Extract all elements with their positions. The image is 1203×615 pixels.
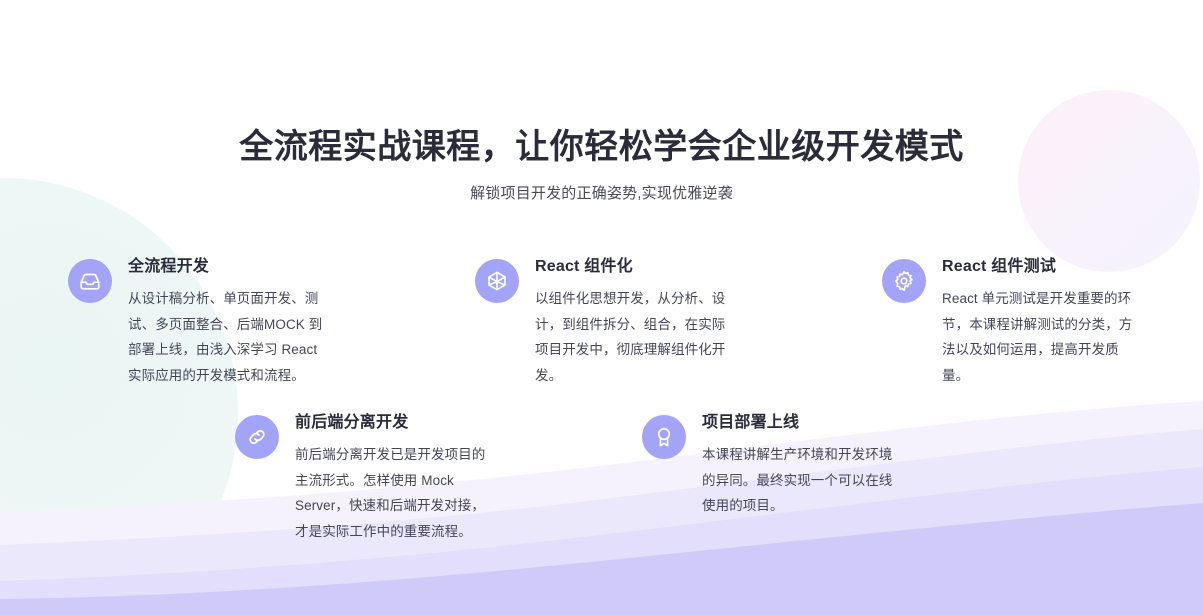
feature-card-text: React 组件测试 React 单元测试是开发重要的环节，本课程讲解测试的分类… xyxy=(942,256,1144,388)
inbox-icon xyxy=(68,259,112,303)
link-icon xyxy=(235,415,279,459)
component-box-icon xyxy=(475,259,519,303)
feature-card-description: 从设计稿分析、单页面开发、测试、多页面整合、后端MOCK 到部署上线，由浅入深学… xyxy=(128,286,328,388)
feature-list: 全流程开发 从设计稿分析、单页面开发、测试、多页面整合、后端MOCK 到部署上线… xyxy=(0,0,1203,615)
medal-icon xyxy=(642,415,686,459)
feature-card-full-process-development: 全流程开发 从设计稿分析、单页面开发、测试、多页面整合、后端MOCK 到部署上线… xyxy=(68,256,328,388)
feature-card-description: 本课程讲解生产环境和开发环境的异同。最终实现一个可以在线使用的项目。 xyxy=(702,442,904,519)
feature-card-title: 项目部署上线 xyxy=(702,412,904,434)
feature-card-frontend-backend-separation: 前后端分离开发 前后端分离开发已是开发项目的主流形式。怎样使用 Mock Ser… xyxy=(235,412,493,544)
feature-card-description: 前后端分离开发已是开发项目的主流形式。怎样使用 Mock Server，快速和后… xyxy=(295,442,493,544)
feature-card-title: 前后端分离开发 xyxy=(295,412,493,434)
feature-card-text: 前后端分离开发 前后端分离开发已是开发项目的主流形式。怎样使用 Mock Ser… xyxy=(295,412,493,544)
landing-section: 全流程实战课程，让你轻松学会企业级开发模式 解锁项目开发的正确姿势,实现优雅逆袭… xyxy=(0,0,1203,615)
feature-card-title: React 组件化 xyxy=(535,256,733,278)
feature-card-text: 项目部署上线 本课程讲解生产环境和开发环境的异同。最终实现一个可以在线使用的项目… xyxy=(702,412,904,519)
feature-card-react-componentization: React 组件化 以组件化思想开发，从分析、设计，到组件拆分、组合，在实际项目… xyxy=(475,256,733,388)
feature-card-description: 以组件化思想开发，从分析、设计，到组件拆分、组合，在实际项目开发中，彻底理解组件… xyxy=(535,286,733,388)
gear-icon xyxy=(882,259,926,303)
feature-card-title: 全流程开发 xyxy=(128,256,328,278)
feature-card-title: React 组件测试 xyxy=(942,256,1144,278)
feature-card-project-deployment: 项目部署上线 本课程讲解生产环境和开发环境的异同。最终实现一个可以在线使用的项目… xyxy=(642,412,904,519)
feature-card-description: React 单元测试是开发重要的环节，本课程讲解测试的分类，方法以及如何运用，提… xyxy=(942,286,1144,388)
feature-card-text: 全流程开发 从设计稿分析、单页面开发、测试、多页面整合、后端MOCK 到部署上线… xyxy=(128,256,328,388)
feature-card-text: React 组件化 以组件化思想开发，从分析、设计，到组件拆分、组合，在实际项目… xyxy=(535,256,733,388)
feature-card-react-component-testing: React 组件测试 React 单元测试是开发重要的环节，本课程讲解测试的分类… xyxy=(882,256,1144,388)
